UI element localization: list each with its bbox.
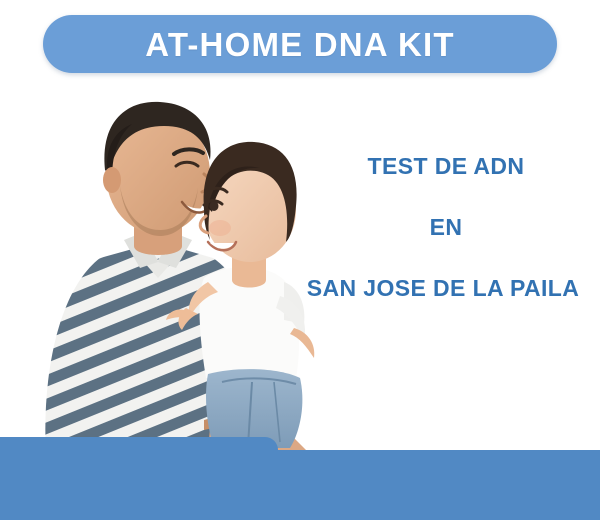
poster-canvas: AT-HOME DNA KIT — [0, 0, 600, 520]
headline-line-2: EN — [300, 216, 592, 239]
headline-line-3: SAN JOSE DE LA PAILA — [294, 277, 592, 300]
family-photo-illustration — [8, 82, 328, 452]
footer-content: www.homednapaternitykit.com 1-877-219-44… — [0, 437, 600, 520]
headline-line-1: TEST DE ADN — [300, 155, 592, 178]
header-banner: AT-HOME DNA KIT — [43, 15, 557, 73]
family-photo — [8, 82, 328, 452]
headline-block: TEST DE ADN EN SAN JOSE DE LA PAILA — [300, 155, 592, 300]
banner-title: AT-HOME DNA KIT — [145, 28, 454, 61]
